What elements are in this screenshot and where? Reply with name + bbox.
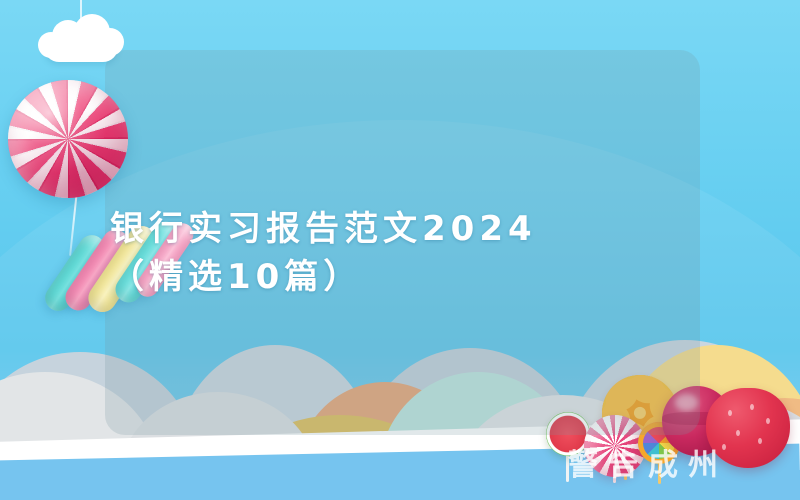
strawberry-seed (728, 410, 732, 416)
strawberry-seed (750, 404, 754, 410)
candy-twists-group (58, 232, 198, 342)
cloud-icon (44, 32, 118, 62)
pinwheel-swirl-overlay (8, 80, 128, 198)
strawberry-seed (736, 430, 740, 436)
cloud-lobe (38, 32, 64, 58)
cover-image-stage: 银行实习报告范文2024 （精选10篇） 警告成州 (0, 0, 800, 500)
pinwheel-lollipop (8, 80, 128, 198)
strawberry-seed (766, 418, 770, 424)
watermark-text: 警告成州 (568, 440, 728, 484)
strawberry-seed (758, 438, 762, 444)
cloud-lobe (96, 28, 124, 56)
